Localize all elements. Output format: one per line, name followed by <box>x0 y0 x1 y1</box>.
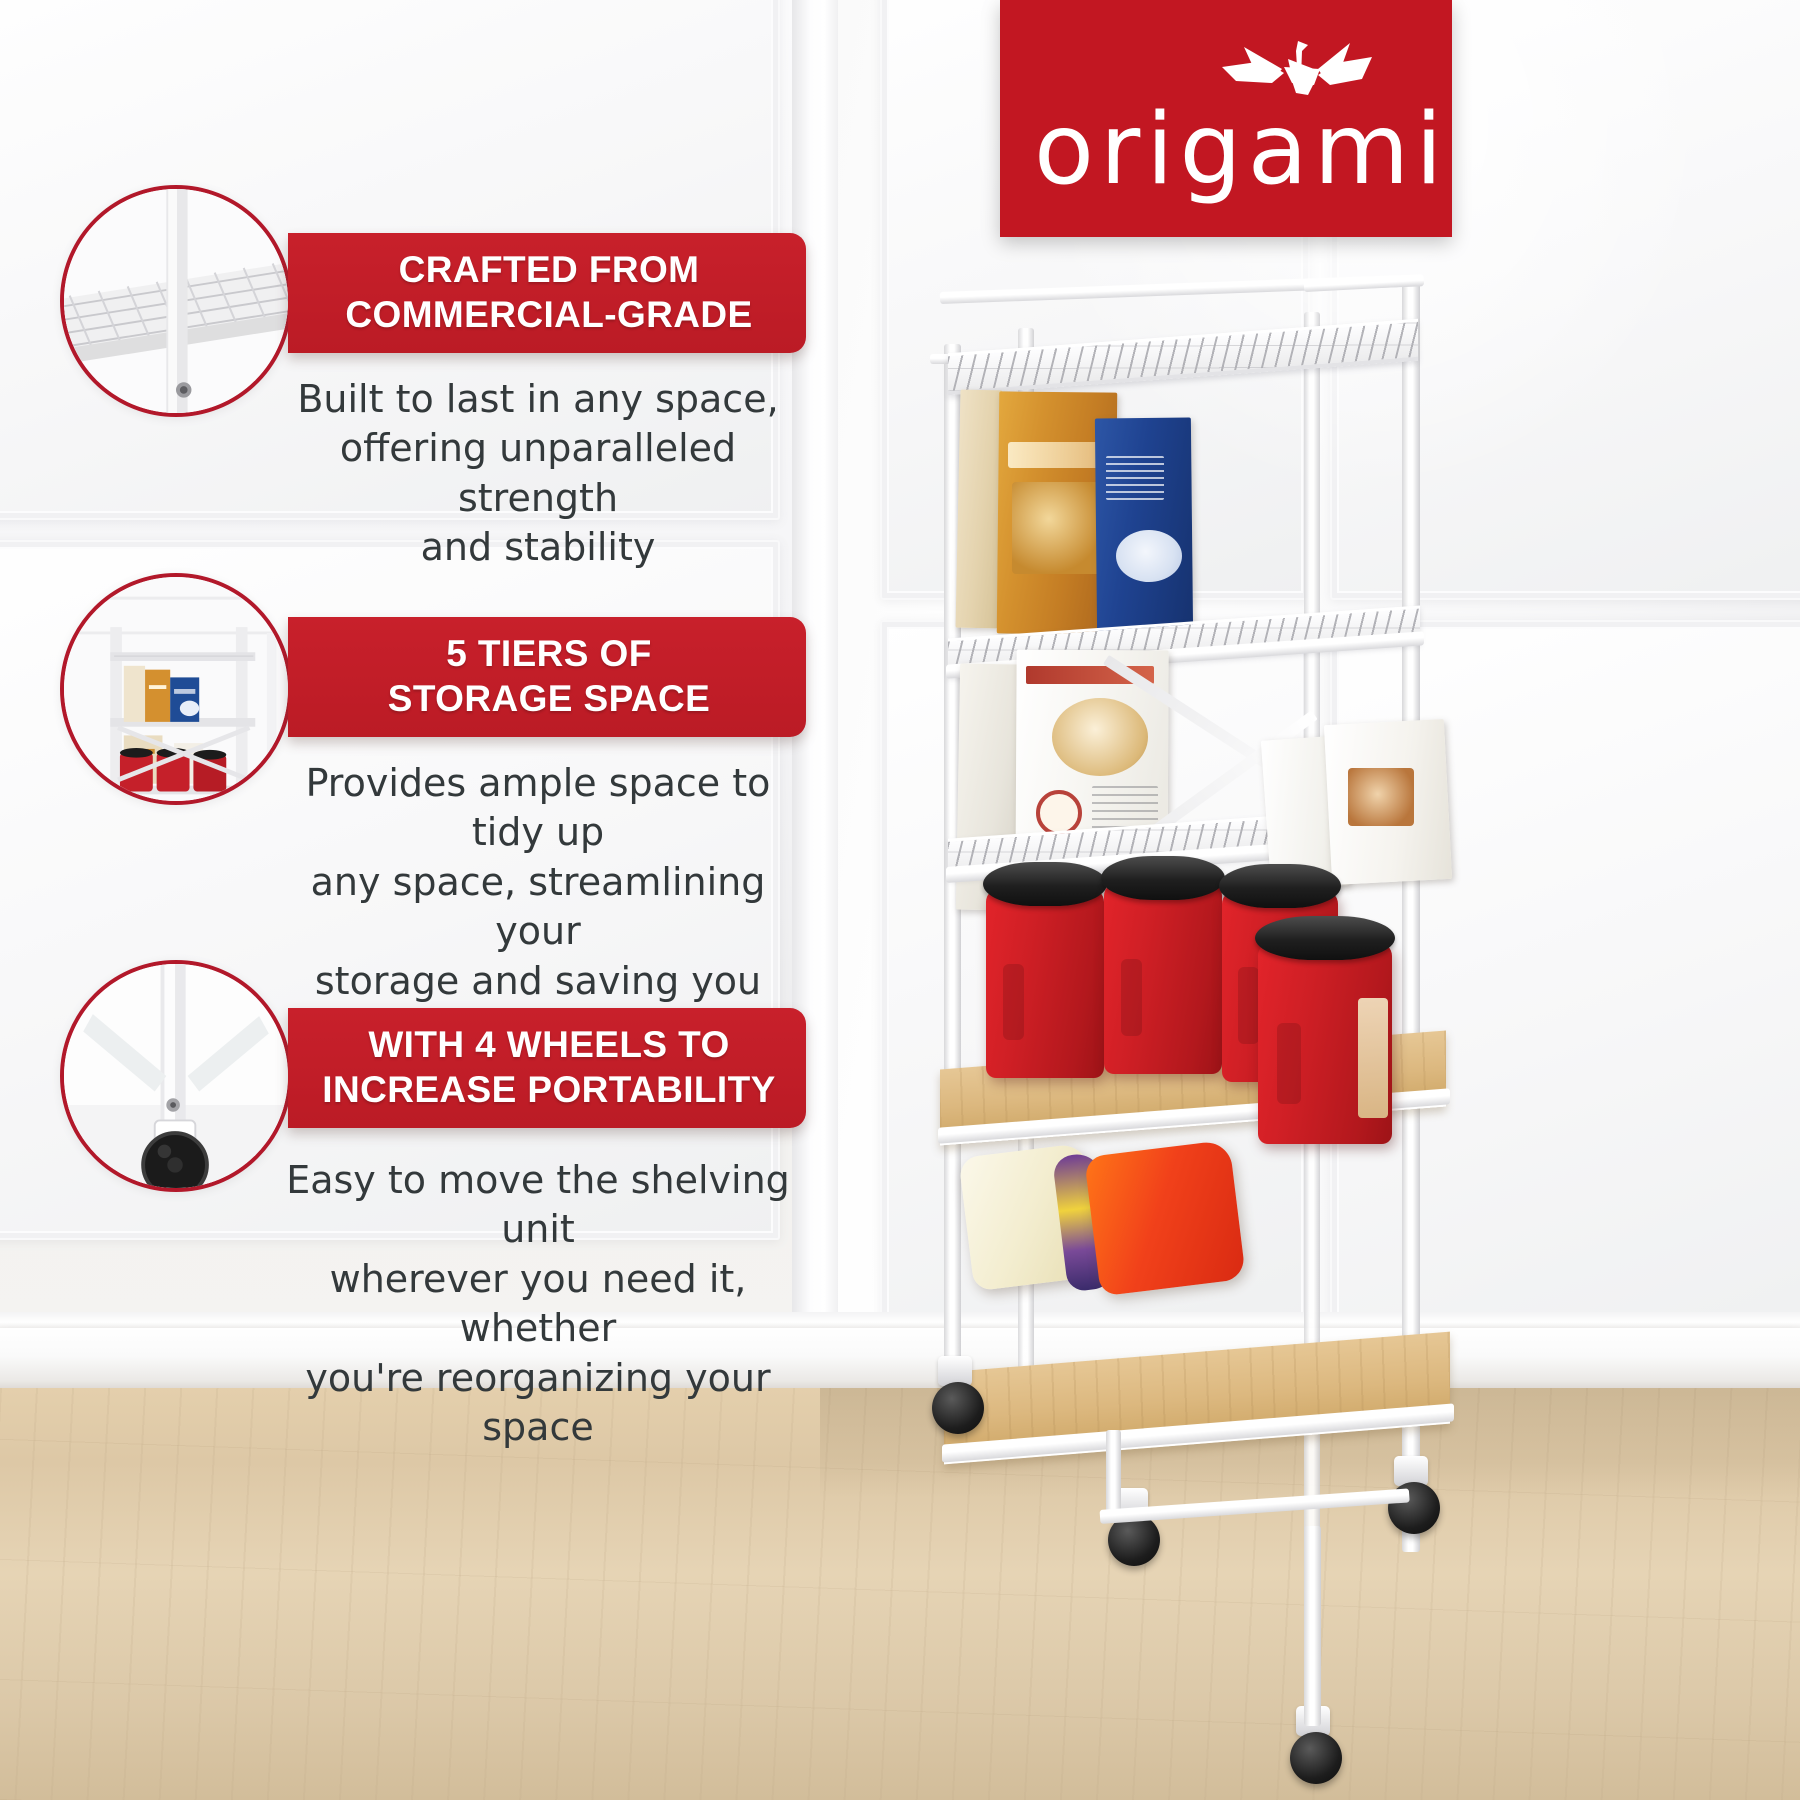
feature-badge-four-wheels: WITH 4 WHEELS TO INCREASE PORTABILITY <box>288 1008 806 1128</box>
badge-headline-line: WITH 4 WHEELS TO <box>368 1022 729 1067</box>
shelving-unit-illustration <box>60 573 292 805</box>
shelf-leg-right <box>1304 1526 1321 1726</box>
brand-logo: origami <box>1000 0 1452 237</box>
body-line: wherever you need it, whether <box>268 1255 808 1354</box>
cheese-bag-red-portion <box>1084 1140 1246 1297</box>
caster-wheel-illustration <box>60 960 292 1192</box>
cereal-box-12grain-label <box>1008 442 1106 468</box>
badge-headline-line: 5 TIERS OF <box>446 631 651 676</box>
infographic-canvas: origami <box>0 0 1800 1800</box>
origami-5-tier-folding-shelf-photo <box>900 270 1520 1800</box>
cereal-box-kickstart-bowl <box>1052 698 1148 776</box>
feature-badge-five-tiers: 5 TIERS OF STORAGE SPACE <box>288 617 806 737</box>
badge-headline-line: COMMERCIAL-GRADE <box>345 292 752 337</box>
caster-wheel <box>932 1382 984 1434</box>
cereal-box-cream <box>956 390 1003 629</box>
caster-wheel <box>1290 1732 1342 1784</box>
body-line: any space, streamlining your <box>268 858 808 957</box>
snack-box-photo <box>1348 768 1414 826</box>
badge-headline-line: INCREASE PORTABILITY <box>322 1067 775 1112</box>
wire-shelf-closeup-photo <box>60 185 292 417</box>
logo-wordmark: origami <box>1034 101 1448 199</box>
badge-headline-line: CRAFTED FROM <box>399 247 700 292</box>
body-line: Built to last in any space, <box>268 375 808 424</box>
cereal-box-blue <box>1095 418 1193 637</box>
feature-body-four-wheels: Easy to move the shelving unit wherever … <box>268 1156 808 1452</box>
feature-body-commercial-grade: Built to last in any space, offering unp… <box>268 375 808 573</box>
body-line: offering unparalleled strength <box>268 424 808 523</box>
cereal-box-blue-textblock <box>1106 456 1164 500</box>
cereal-box-12grain-photo <box>1012 482 1104 574</box>
feature-badge-commercial-grade: CRAFTED FROM COMMERCIAL-GRADE <box>288 233 806 353</box>
body-line: you're reorganizing your space <box>268 1354 808 1453</box>
cereal-box-blue-bowl <box>1116 530 1182 582</box>
body-line: Provides ample space to tidy up <box>268 759 808 858</box>
red-canister <box>986 888 1104 1078</box>
wire-shelf-illustration <box>60 185 292 417</box>
body-line: and stability <box>268 523 808 572</box>
canister-label <box>1358 998 1388 1118</box>
shelving-unit-with-boxes-photo <box>60 573 292 805</box>
red-canister <box>1104 882 1222 1074</box>
caster-wheel-closeup-photo <box>60 960 292 1192</box>
badge-headline-line: STORAGE SPACE <box>388 676 711 721</box>
body-line: Easy to move the shelving unit <box>268 1156 808 1255</box>
